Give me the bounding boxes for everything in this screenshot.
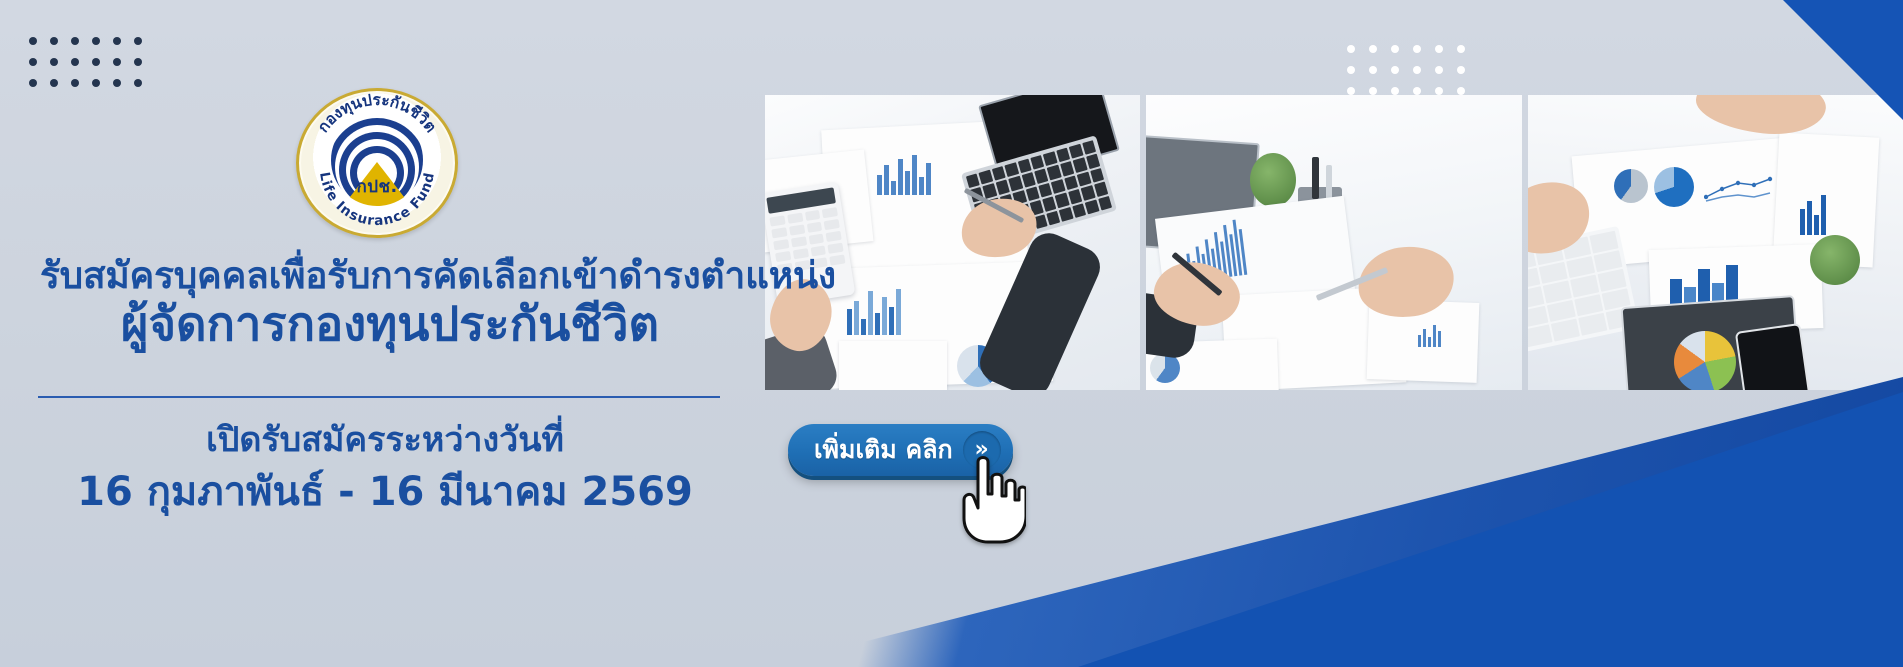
more-info-button-label: เพิ่มเติม คลิก — [814, 430, 953, 470]
dot — [1450, 38, 1471, 59]
pen — [1312, 157, 1319, 199]
dot — [1428, 59, 1449, 80]
dot — [22, 30, 43, 51]
dot — [85, 72, 106, 93]
plant — [1250, 153, 1296, 207]
paper-bar-chart — [847, 287, 901, 335]
dot — [64, 51, 85, 72]
dot-grid-left — [22, 30, 148, 93]
dot — [106, 30, 127, 51]
paper-pie-chart — [1654, 167, 1694, 207]
paper-sheet — [839, 341, 947, 390]
dot — [1384, 59, 1405, 80]
dot — [1406, 59, 1427, 80]
dot — [43, 30, 64, 51]
application-period-block: เปิดรับสมัครระหว่างวันที่ 16 กุมภาพันธ์ … — [40, 418, 730, 518]
application-period-label: เปิดรับสมัครระหว่างวันที่ — [40, 418, 730, 462]
photo-strip — [765, 95, 1903, 390]
dot — [106, 72, 127, 93]
headline-line-2: ผู้จัดการกองทุนประกันชีวิต — [40, 298, 740, 352]
tablet-pie-chart — [1674, 331, 1736, 390]
pointing-hand-cursor — [952, 452, 1026, 544]
paper-pie-chart — [1614, 169, 1648, 203]
dot — [1362, 59, 1383, 80]
dot — [1428, 38, 1449, 59]
dot — [1450, 59, 1471, 80]
dot — [127, 30, 148, 51]
headline-line-1: รับสมัครบุคคลเพื่อรับการคัดเลือกเข้าดำรง… — [40, 255, 740, 296]
pen — [1326, 165, 1332, 201]
dot — [85, 30, 106, 51]
logo-core: กปช. — [331, 114, 423, 206]
dot — [1428, 80, 1449, 101]
dot — [1450, 80, 1471, 101]
life-insurance-fund-logo: กองทุนประกันชีวิต Life Insurance Fund กป… — [296, 88, 458, 238]
logo-abbreviation: กปช. — [331, 173, 423, 200]
dot — [127, 72, 148, 93]
dot — [64, 72, 85, 93]
photo-business-meeting-documents — [1146, 95, 1521, 390]
dot — [22, 51, 43, 72]
dot — [1384, 38, 1405, 59]
dot — [1406, 80, 1427, 101]
dot — [1362, 38, 1383, 59]
dot — [106, 51, 127, 72]
dot — [1340, 38, 1361, 59]
paper-bar-chart — [1418, 321, 1441, 347]
application-period-dates: 16 กุมภาพันธ์ - 16 มีนาคม 2569 — [40, 466, 730, 518]
dot — [1362, 80, 1383, 101]
dot — [85, 51, 106, 72]
dot — [43, 51, 64, 72]
plant — [1810, 235, 1860, 285]
recruitment-banner: กองทุนประกันชีวิต Life Insurance Fund กป… — [0, 0, 1903, 667]
dot — [43, 72, 64, 93]
paper-bar-chart — [877, 153, 931, 195]
dot — [1406, 38, 1427, 59]
paper-line-chart — [1704, 171, 1782, 205]
headline-block: รับสมัครบุคคลเพื่อรับการคัดเลือกเข้าดำรง… — [40, 255, 740, 352]
dot — [22, 72, 43, 93]
dot — [1384, 80, 1405, 101]
photo-financial-analysis-calculator — [765, 95, 1140, 390]
photo-data-reports-tablet — [1528, 95, 1903, 390]
headline-divider — [38, 396, 720, 398]
dot — [1340, 80, 1361, 101]
dot-grid-right — [1340, 38, 1472, 101]
paper-bar-chart — [1800, 191, 1826, 235]
dot — [64, 30, 85, 51]
dot — [127, 51, 148, 72]
dot — [1340, 59, 1361, 80]
